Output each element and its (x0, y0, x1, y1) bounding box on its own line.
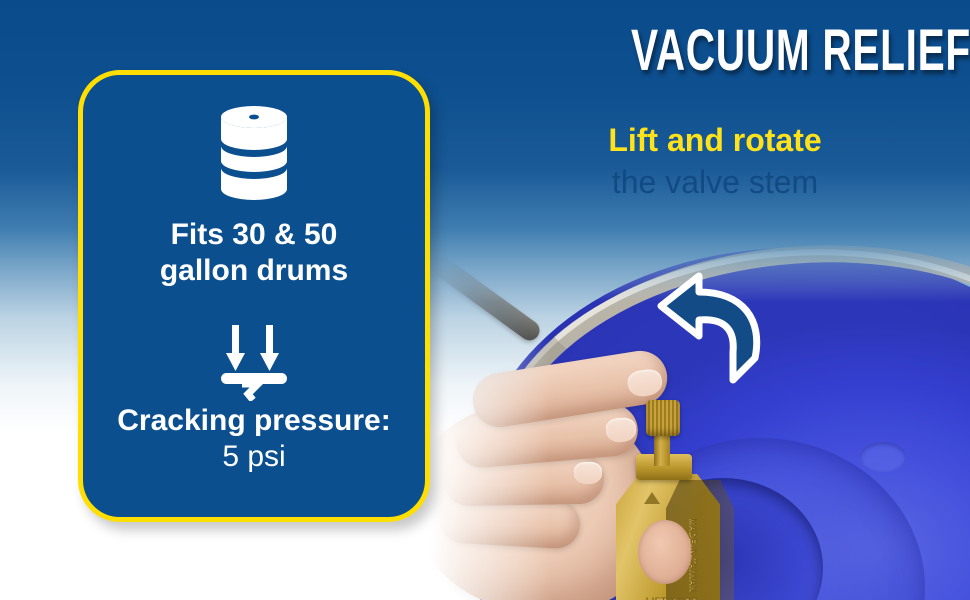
feature-text-1-line-2: gallon drums (160, 254, 348, 287)
feature-text-2-value: 5 psi (204, 439, 303, 475)
valve-embossed-side-text: MADE IN TAIWAN (688, 511, 699, 600)
feature-text-1-line-1: Fits 30 & 50 (171, 218, 338, 251)
feature-card: Fits 30 & 50 gallon drums Cracking press… (78, 70, 430, 522)
valve-stem (654, 432, 670, 466)
valve-disc (638, 520, 692, 584)
valve-embossed-text-line1: LIFT KNOB (602, 596, 742, 600)
banner-subtitle-highlight: Lift and rotate (505, 122, 925, 158)
valve-up-arrow-mark (644, 492, 660, 504)
valve-knob (646, 400, 680, 436)
feature-text-1: Fits 30 & 50 gallon drums (142, 217, 366, 289)
banner-title: VACUUM RELIEF (631, 22, 925, 80)
feature-text-2-line-1: Cracking pressure: (117, 404, 390, 437)
banner-subtitle-rest: the valve stem (505, 163, 925, 201)
drum-icon (216, 103, 292, 203)
pressure-drop-icon (215, 323, 293, 401)
rotate-arrow-icon (655, 268, 765, 386)
feature-text-2: Cracking pressure: (99, 403, 408, 439)
vacuum-relief-valve: MADE IN TAIWAN LIFT KNOB TO VENT (608, 400, 748, 600)
product-feature-banner: MADE IN TAIWAN LIFT KNOB TO VENT VACUUM … (0, 0, 970, 600)
fingernail-ring (574, 462, 602, 484)
